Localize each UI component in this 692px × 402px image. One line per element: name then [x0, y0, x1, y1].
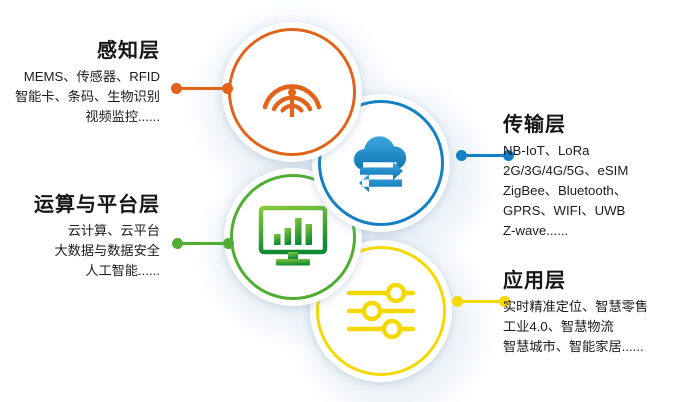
slider-knob-1[interactable] [388, 285, 404, 301]
antenna-mast [290, 92, 294, 117]
layer-line-application-3: 智慧城市、智能家居...... [503, 337, 692, 357]
settings-sliders-icon [343, 281, 419, 341]
connector-line-transmission [467, 154, 503, 157]
connector-dot-inner-transmission [456, 150, 467, 161]
layer-line-application-1: 实时精准定位、智慧零售 [503, 297, 692, 317]
label-block-application: 应用层 实时精准定位、智慧零售 工业4.0、智慧物流 智慧城市、智能家居....… [503, 270, 692, 357]
layer-line-perception-1: MEMS、传感器、RFID [0, 67, 160, 87]
connector-dot-outer-computing [172, 238, 183, 249]
connector-line-application [463, 300, 499, 303]
connector-computing [172, 238, 234, 249]
slider-knob-3[interactable] [384, 321, 400, 337]
bar-2 [285, 228, 292, 245]
cloud-transfer-icon [343, 128, 419, 198]
layer-heading-computing: 运算与平台层 [0, 194, 160, 217]
label-block-computing: 运算与平台层 云计算、云平台 大数据与数据安全 人工智能...... [0, 194, 160, 281]
connector-dot-inner-application [452, 296, 463, 307]
cloud-body [354, 136, 406, 170]
layer-line-transmission-1: NB-IoT、LoRa [503, 141, 692, 161]
layer-line-transmission-3: ZigBee、Bluetooth、 [503, 181, 692, 201]
label-block-transmission: 传输层 NB-IoT、LoRa 2G/3G/4G/5G、eSIM ZigBee、… [503, 114, 692, 241]
layer-line-transmission-2: 2G/3G/4G/5G、eSIM [503, 161, 692, 181]
layer-line-transmission-5: Z-wave...... [503, 221, 692, 241]
layer-line-transmission-4: GPRS、WIFI、UWB [503, 201, 692, 221]
slider-knob-2[interactable] [364, 303, 380, 319]
connector-dot-outer-perception [171, 83, 182, 94]
layer-heading-application: 应用层 [503, 270, 692, 293]
monitor-neck [288, 252, 298, 259]
label-block-perception: 感知层 MEMS、传感器、RFID 智能卡、条码、生物识别 视频监控...... [0, 40, 160, 127]
connector-line-computing [183, 242, 223, 245]
antenna-signal-icon [255, 55, 329, 129]
connector-perception [171, 83, 233, 94]
connector-dot-inner-perception [222, 83, 233, 94]
layer-heading-transmission: 传输层 [503, 114, 692, 137]
diagram-canvas: 感知层 MEMS、传感器、RFID 智能卡、条码、生物识别 视频监控......… [0, 0, 692, 402]
layer-line-perception-3: 视频监控...... [0, 107, 160, 127]
connector-line-perception [182, 87, 222, 90]
layer-line-application-2: 工业4.0、智慧物流 [503, 317, 692, 337]
layer-line-computing-1: 云计算、云平台 [0, 221, 160, 241]
monitor-bar-chart-icon [257, 204, 329, 270]
bar-3 [295, 218, 302, 245]
bar-1 [274, 234, 281, 245]
connector-application [452, 296, 510, 307]
layer-line-perception-2: 智能卡、条码、生物识别 [0, 87, 160, 107]
layer-line-computing-3: 人工智能...... [0, 261, 160, 281]
connector-dot-inner-computing [223, 238, 234, 249]
node-circle-perception[interactable] [222, 22, 362, 162]
layer-line-computing-2: 大数据与数据安全 [0, 241, 160, 261]
monitor-frame [261, 208, 325, 252]
monitor-base [276, 259, 310, 266]
bar-4 [306, 224, 313, 245]
layer-heading-perception: 感知层 [0, 40, 160, 63]
